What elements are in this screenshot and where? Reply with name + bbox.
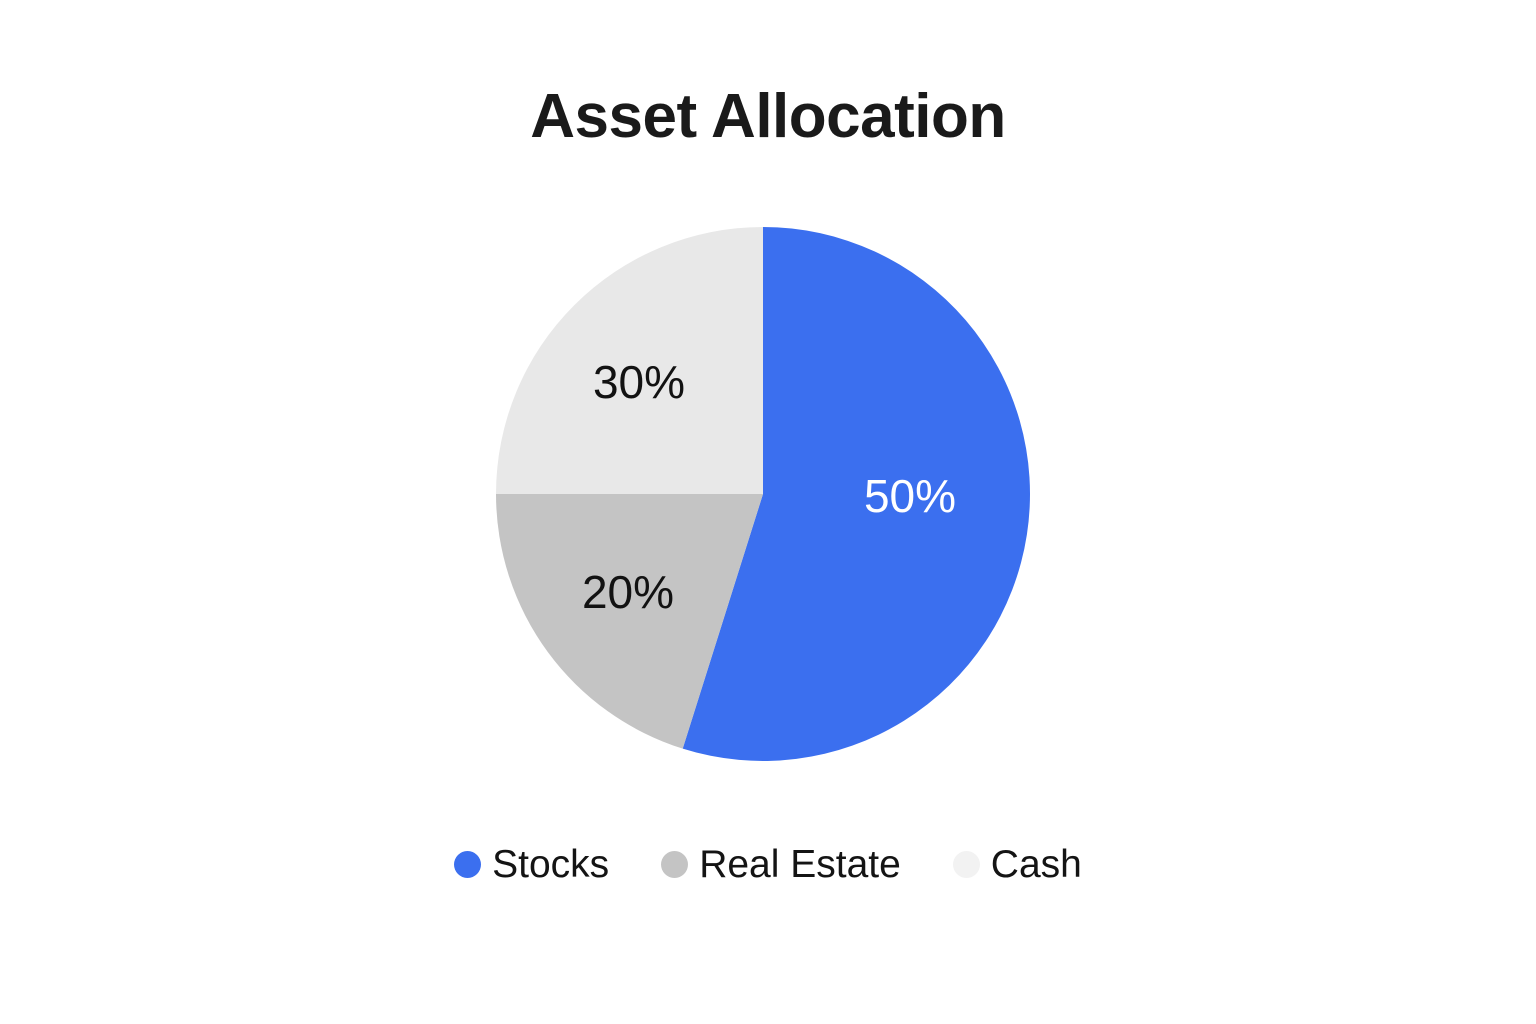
legend-label-real-estate: Real Estate xyxy=(699,845,901,884)
chart-legend: StocksReal EstateCash xyxy=(0,845,1536,884)
legend-item-cash[interactable]: Cash xyxy=(953,845,1082,884)
legend-item-stocks[interactable]: Stocks xyxy=(454,845,609,884)
pie-chart-plot-area: 50%20%30% xyxy=(496,227,1030,761)
legend-label-cash: Cash xyxy=(991,845,1082,884)
legend-swatch-real-estate-icon xyxy=(661,851,688,878)
pie-slice-value-label: 50% xyxy=(864,470,956,522)
pie-slice-value-label: 30% xyxy=(593,356,685,408)
legend-swatch-cash-icon xyxy=(953,851,980,878)
legend-swatch-stocks-icon xyxy=(454,851,481,878)
pie-slice-value-label: 20% xyxy=(582,566,674,618)
legend-label-stocks: Stocks xyxy=(492,845,609,884)
chart-title: Asset Allocation xyxy=(0,86,1536,148)
legend-item-real-estate[interactable]: Real Estate xyxy=(661,845,901,884)
pie-svg: 50%20%30% xyxy=(496,227,1030,761)
pie-chart-figure: Asset Allocation 50%20%30% StocksReal Es… xyxy=(0,0,1536,1024)
